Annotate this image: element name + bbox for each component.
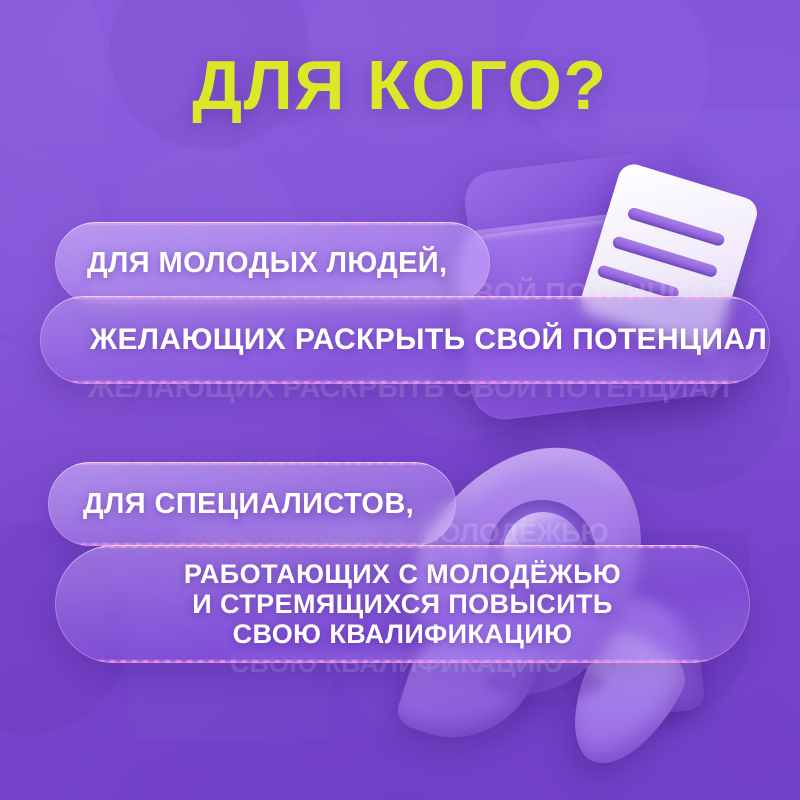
audience-card-label: РАБОТАЮЩИХ С МОЛОДЁЖЬЮ И СТРЕМЯЩИХСЯ ПОВ… [83, 559, 722, 650]
card-edge-fringe-bottom [40, 381, 770, 384]
audience-card-label-line: РАБОТАЮЩИХ С МОЛОДЁЖЬЮ [83, 559, 722, 589]
page-title: ДЛЯ КОГО? [0, 50, 800, 120]
audience-card-label-line: СВОЮ КВАЛИФИКАЦИЮ [83, 619, 722, 649]
audience-card-label: ЖЕЛАЮЩИХ РАСКРЫТЬ СВОЙ ПОТЕНЦИАЛ [90, 323, 770, 357]
audience-card-label-line: И СТРЕМЯЩИХСЯ ПОВЫСИТЬ [83, 589, 722, 619]
card-edge-fringe-top [48, 462, 456, 465]
card-edge-fringe-top [40, 296, 770, 299]
audience-card-potential: ЖЕЛАЮЩИХ РАСКРЫТЬ СВОЙ ПОТЕНЦИАЛ [40, 296, 770, 384]
audience-card-label: ДЛЯ МОЛОДЫХ ЛЮДЕЙ, [87, 247, 490, 280]
audience-card-qualification: РАБОТАЮЩИХ С МОЛОДЁЖЬЮ И СТРЕМЯЩИХСЯ ПОВ… [55, 545, 750, 663]
audience-card-label: ДЛЯ СПЕЦИАЛИСТОВ, [83, 488, 456, 521]
audience-card-young-people: ДЛЯ МОЛОДЫХ ЛЮДЕЙ, [55, 222, 490, 304]
card-edge-fringe-top [55, 222, 490, 225]
slide-root: ЖЕЛАЮЩИХ РАСКРЫТЬ СВОЙ ПОТЕНЦИАЛ ЖЕЛАЮЩИ… [0, 0, 800, 800]
audience-card-specialists: ДЛЯ СПЕЦИАЛИСТОВ, [48, 462, 456, 546]
card-edge-fringe-bottom [55, 660, 750, 663]
card-edge-fringe-top [55, 545, 750, 548]
